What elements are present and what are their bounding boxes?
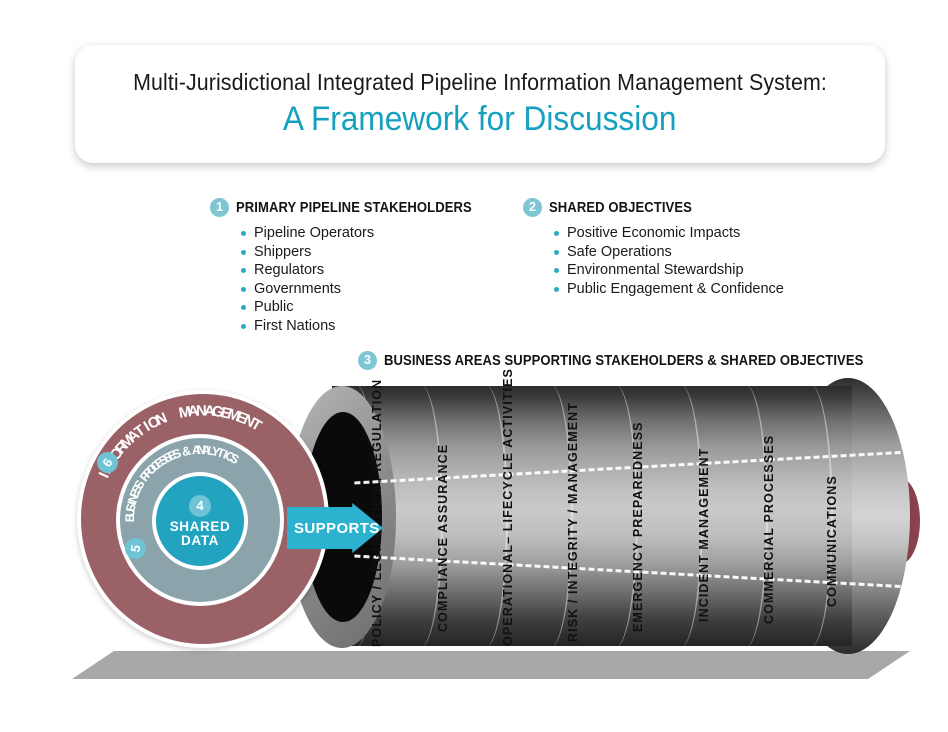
list-item: Pipeline Operators: [241, 224, 498, 243]
band-label-incident: INCIDENT MANAGEMENT: [697, 448, 711, 622]
section-primary-pipeline-stakeholders: 1 PRIMARY PIPELINE STAKEHOLDERS Pipeline…: [210, 198, 498, 335]
section-title: BUSINESS AREAS SUPPORTING STAKEHOLDERS &…: [384, 353, 863, 369]
supports-arrow-label: SUPPORTS: [294, 520, 380, 537]
band-label-communications: COMMUNICATIONS: [825, 475, 839, 607]
section-title: SHARED OBJECTIVES: [549, 200, 692, 216]
list-item: Regulators: [241, 261, 498, 280]
list-item: Positive Economic Impacts: [554, 224, 784, 243]
shared-data-line1: SHARED: [170, 520, 231, 534]
objectives-list: Positive Economic Impacts Safe Operation…: [523, 224, 784, 298]
title-card: Multi-Jurisdictional Integrated Pipeline…: [75, 45, 885, 163]
band-label-policy: POLICY / LEGISLATION / REGULATION: [370, 379, 384, 647]
list-item: Public: [241, 298, 498, 317]
band-label-compliance: COMPLIANCE ASSURANCE: [436, 444, 450, 632]
section-business-areas: 3 BUSINESS AREAS SUPPORTING STAKEHOLDERS…: [358, 351, 917, 377]
list-item: Environmental Stewardship: [554, 261, 784, 280]
list-item: First Nations: [241, 317, 498, 336]
list-item: Public Engagement & Confidence: [554, 280, 784, 299]
number-badge-1: 1: [210, 198, 229, 217]
list-item: Governments: [241, 280, 498, 299]
stakeholder-list: Pipeline Operators Shippers Regulators G…: [210, 224, 498, 335]
section-header: 2 SHARED OBJECTIVES: [523, 198, 784, 217]
band-label-commercial: COMMERCIAL PROCESSES: [762, 435, 776, 624]
band-label-risk: RISK / INTEGRITY / MANAGEMENT: [566, 402, 580, 642]
number-badge-4: 4: [189, 495, 211, 517]
section-header: 1 PRIMARY PIPELINE STAKEHOLDERS: [210, 198, 498, 217]
page-title-primary: Multi-Jurisdictional Integrated Pipeline…: [133, 69, 827, 96]
band-label-emergency: EMERGENCY PREPAREDNESS: [631, 421, 645, 632]
shared-data-line2: DATA: [181, 534, 219, 548]
number-badge-3: 3: [358, 351, 377, 370]
section-title: PRIMARY PIPELINE STAKEHOLDERS: [236, 200, 472, 216]
band-label-operational: OPERATIONAL– LIFECYCLE ACTIVITIES: [501, 368, 515, 646]
diagram-canvas: Multi-Jurisdictional Integrated Pipeline…: [0, 0, 948, 732]
section-shared-objectives: 2 SHARED OBJECTIVES Positive Economic Im…: [523, 198, 784, 298]
pipeline-cylinder: POLICY / LEGISLATION / REGULATION COMPLI…: [288, 378, 910, 656]
list-item: Shippers: [241, 243, 498, 262]
number-badge-2: 2: [523, 198, 542, 217]
section-header: 3 BUSINESS AREAS SUPPORTING STAKEHOLDERS…: [358, 351, 917, 370]
circle-shared-data: 4 SHARED DATA: [152, 472, 248, 570]
page-title-secondary: A Framework for Discussion: [283, 100, 677, 139]
list-item: Safe Operations: [554, 243, 784, 262]
